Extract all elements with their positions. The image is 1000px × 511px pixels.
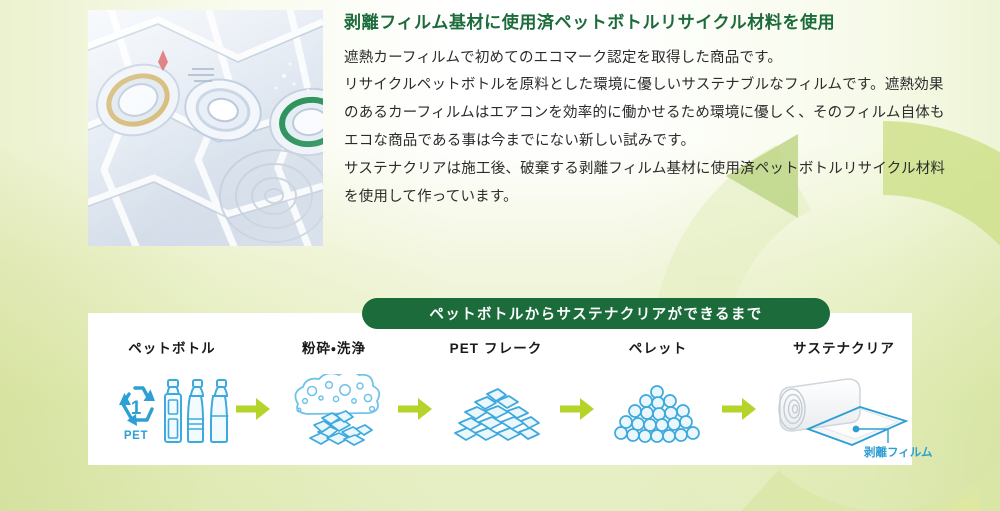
flow-step-label: サステナクリア	[793, 337, 895, 357]
process-flow-steps: ペットボトル 1 PET	[88, 337, 912, 465]
flow-step-crushing-washing: 粉砕・洗浄	[270, 337, 398, 449]
pet-flakes-icon	[432, 373, 560, 449]
pet-bottles-icon: 1 PET	[108, 373, 236, 449]
film-callout-label: 剥離フィルム	[864, 445, 932, 459]
arrow-right-icon	[560, 396, 594, 422]
flow-step-label: 粉砕・洗浄	[302, 337, 366, 357]
flow-step-label: ペットボトル	[128, 337, 216, 357]
flow-arrow-1	[236, 337, 270, 465]
hero-paragraph-3: サステナクリアは施工後、破棄する剥離フィルム基材に使用済ペットボトルリサイクル材…	[344, 156, 952, 212]
product-photo	[88, 10, 323, 246]
hero-body: 遮熱カーフィルムで初めてのエコマーク認定を取得した商品です。 リサイクルペットボ…	[344, 45, 952, 213]
hero-paragraph-1: 遮熱カーフィルムで初めてのエコマーク認定を取得した商品です。	[344, 45, 952, 73]
flow-step-pet-flakes: PET フレーク	[432, 337, 560, 449]
page-title: 剥離フィルム基材に使用済ペットボトルリサイクル材料を使用	[344, 10, 952, 36]
flow-step-pet-bottles: ペットボトル 1 PET	[108, 337, 236, 449]
process-flow-title: ペットボトルからサステナクリアができるまで	[362, 298, 830, 329]
arrow-right-icon	[722, 396, 756, 422]
hero-paragraph-2: リサイクルペットボトルを原料とした環境に優しいサステナブルなフィルムです。遮熱効…	[344, 72, 952, 156]
arrow-right-icon	[398, 396, 432, 422]
flow-step-sustenaclear: サステナクリア	[756, 337, 932, 459]
hero-copy: 剥離フィルム基材に使用済ペットボトルリサイクル材料を使用 遮熱カーフィルムで初め…	[344, 10, 952, 212]
film-roll-icon: 剥離フィルム	[756, 373, 932, 459]
page-root: 剥離フィルム基材に使用済ペットボトルリサイクル材料を使用 遮熱カーフィルムで初め…	[0, 0, 1000, 511]
recycle-mark-text: PET	[124, 430, 148, 442]
crushing-washing-icon	[270, 373, 398, 449]
pellets-icon	[594, 373, 722, 449]
flow-arrow-4	[722, 337, 756, 465]
flow-arrow-2	[398, 337, 432, 465]
pet-bottle-pile-illustration	[88, 10, 323, 246]
flow-step-label: ペレット	[629, 337, 687, 357]
flow-arrow-3	[560, 337, 594, 465]
flow-step-pellets: ペレット	[594, 337, 722, 449]
process-flow-card: ペットボトルからサステナクリアができるまで ペットボトル	[88, 313, 912, 465]
flow-step-label: PET フレーク	[450, 337, 543, 357]
arrow-right-icon	[236, 396, 270, 422]
recycle-mark-number: 1	[131, 398, 142, 419]
